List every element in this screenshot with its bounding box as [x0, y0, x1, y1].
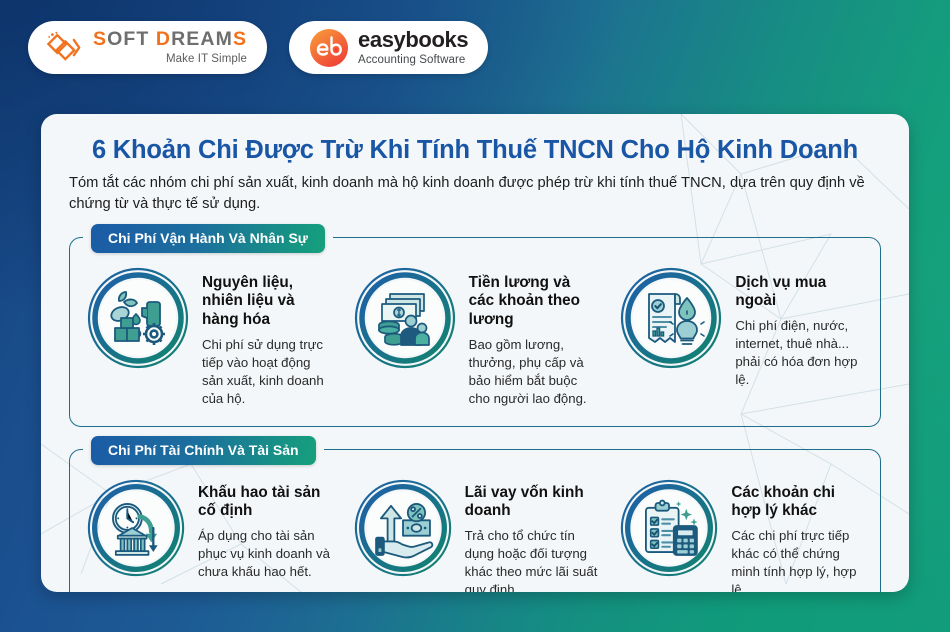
card-title: Lãi vay vốn kinh doanh — [465, 484, 600, 521]
card-outsourced-services[interactable]: Dịch vụ mua ngoài Chi phí điện, nước, in… — [611, 264, 872, 410]
card-other-expenses[interactable]: Các khoản chi hợp lý khác Các chi phí tr… — [611, 476, 872, 592]
card-salary[interactable]: Tiền lương và các khoản theo lương Bao g… — [345, 264, 606, 410]
section-box-operating: Nguyên liệu, nhiên liệu và hàng hóa Chi … — [69, 237, 881, 427]
card-text-loan-interest: Lãi vay vốn kinh doanh Trả cho tổ chức t… — [465, 478, 600, 592]
card-raw-materials[interactable]: Nguyên liệu, nhiên liệu và hàng hóa Chi … — [78, 264, 339, 410]
card-text-salary: Tiền lương và các khoản theo lương Bao g… — [469, 266, 600, 408]
card-title: Các khoản chi hợp lý khác — [731, 484, 866, 521]
section-box-financial: Khấu hao tài sản cố định Áp dụng cho tài… — [69, 449, 881, 592]
checklist-calculator-icon — [619, 478, 719, 578]
section-badge-operating: Chi Phí Vận Hành Và Nhân Sự — [91, 224, 325, 253]
card-loan-interest[interactable]: Lãi vay vốn kinh doanh Trả cho tổ chức t… — [345, 476, 606, 592]
loan-interest-hand-icon — [353, 478, 453, 578]
section-badge-financial: Chi Phí Tài Chính Và Tài Sản — [91, 436, 316, 465]
eb-circle-icon — [309, 28, 349, 68]
card-desc: Chi phí điện, nước, internet, thuê nhà..… — [735, 317, 866, 389]
raw-materials-icon — [86, 266, 190, 370]
soft-dreams-wordmark: SOFT DREAMS Make IT Simple — [93, 30, 247, 65]
card-text-outsourced-services: Dịch vụ mua ngoài Chi phí điện, nước, in… — [735, 266, 866, 389]
card-desc: Các chi phí trực tiếp khác có thể chứng … — [731, 527, 866, 592]
easybooks-name: easybooks — [358, 29, 468, 51]
card-title: Tiền lương và các khoản theo lương — [469, 274, 600, 330]
card-desc: Trả cho tổ chức tín dụng hoặc đối tượng … — [465, 527, 600, 592]
card-desc: Áp dụng cho tài sản phục vụ kinh doanh v… — [198, 527, 333, 581]
card-text-depreciation: Khấu hao tài sản cố định Áp dụng cho tài… — [198, 478, 333, 581]
depreciation-clock-bank-icon — [86, 478, 186, 578]
card-text-other-expenses: Các khoản chi hợp lý khác Các chi phí tr… — [731, 478, 866, 592]
salary-money-people-icon — [353, 266, 457, 370]
section-financial-costs: Chi Phí Tài Chính Và Tài Sản — [69, 449, 881, 592]
card-text-raw-materials: Nguyên liệu, nhiên liệu và hàng hóa Chi … — [202, 266, 333, 408]
content-panel: 6 Khoản Chi Được Trừ Khi Tính Thuế TNCN … — [41, 114, 909, 592]
utility-invoice-icon — [619, 266, 723, 370]
section-operating-costs: Chi Phí Vận Hành Và Nhân Sự — [69, 237, 881, 427]
card-grid-operating: Nguyên liệu, nhiên liệu và hàng hóa Chi … — [78, 264, 872, 410]
logo-easybooks: easybooks Accounting Software — [289, 21, 488, 74]
page-subtitle: Tóm tắt các nhóm chi phí sản xuất, kinh … — [69, 173, 869, 215]
soft-dreams-tagline: Make IT Simple — [93, 54, 247, 66]
easybooks-wordmark: easybooks Accounting Software — [358, 29, 468, 67]
card-grid-financial: Khấu hao tài sản cố định Áp dụng cho tài… — [78, 476, 872, 592]
card-depreciation[interactable]: Khấu hao tài sản cố định Áp dụng cho tài… — [78, 476, 339, 592]
infographic-canvas: SOFT DREAMS Make IT Simple — [0, 0, 950, 632]
page-title: 6 Khoản Chi Được Trừ Khi Tính Thuế TNCN … — [69, 136, 881, 164]
card-title: Dịch vụ mua ngoài — [735, 274, 866, 311]
card-title: Nguyên liệu, nhiên liệu và hàng hóa — [202, 274, 333, 330]
interlocking-diamonds-icon — [44, 31, 84, 65]
card-desc: Chi phí sử dụng trực tiếp vào hoạt động … — [202, 336, 333, 408]
logo-soft-dreams: SOFT DREAMS Make IT Simple — [28, 21, 267, 74]
soft-dreams-name: SOFT DREAMS — [93, 30, 247, 50]
card-desc: Bao gồm lương, thưởng, phụ cấp và bảo hi… — [469, 336, 600, 408]
easybooks-tagline: Accounting Software — [358, 55, 468, 67]
logo-bar: SOFT DREAMS Make IT Simple — [28, 21, 488, 74]
card-title: Khấu hao tài sản cố định — [198, 484, 333, 521]
